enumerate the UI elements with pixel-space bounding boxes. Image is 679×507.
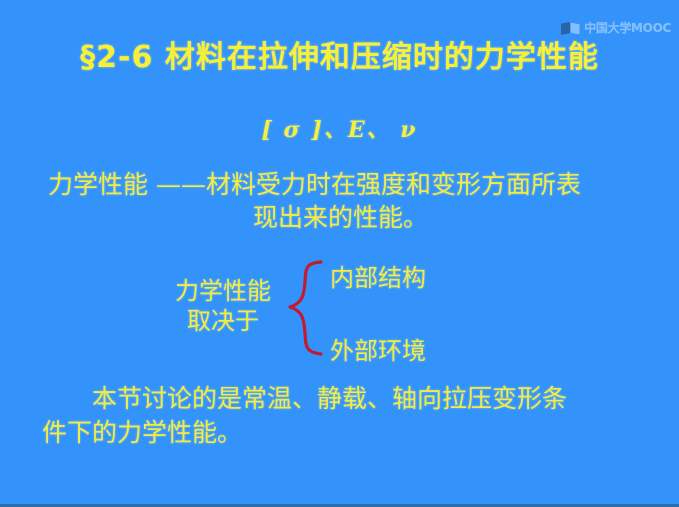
brace-left-label-line-2: 取决于 bbox=[158, 306, 288, 336]
symbol-line: [ σ ]、E、 ν bbox=[0, 112, 679, 144]
brace-left-label: 力学性能 取决于 bbox=[158, 276, 288, 336]
curly-brace-icon bbox=[285, 258, 331, 358]
definition-paragraph: 力学性能 ——材料受力时在强度和变形方面所表 现出来的性能。 bbox=[48, 168, 633, 234]
page-title: §2-6 材料在拉伸和压缩时的力学性能 bbox=[0, 32, 679, 76]
definition-line-1: 力学性能 ——材料受力时在强度和变形方面所表 bbox=[48, 168, 633, 201]
brace-item-external-environment: 外部环境 bbox=[330, 331, 426, 366]
brace-left-label-line-1: 力学性能 bbox=[158, 276, 288, 306]
closing-line-1: 本节讨论的是常温、静载、轴向拉压变形条 bbox=[42, 382, 642, 416]
brace-diagram: 力学性能 取决于 内部结构 外部环境 bbox=[150, 258, 550, 366]
brace-item-internal-structure: 内部结构 bbox=[330, 258, 426, 293]
lecture-slide: 中国大学MOOC §2-6 材料在拉伸和压缩时的力学性能 [ σ ]、E、 ν … bbox=[0, 0, 679, 507]
definition-line-2: 现出来的性能。 bbox=[48, 201, 633, 234]
closing-paragraph: 本节讨论的是常温、静载、轴向拉压变形条 件下的力学性能。 bbox=[42, 382, 642, 450]
closing-line-2: 件下的力学性能。 bbox=[42, 416, 642, 450]
